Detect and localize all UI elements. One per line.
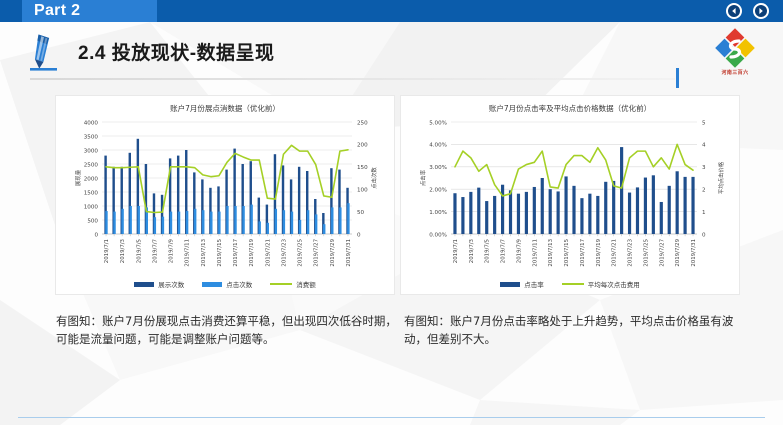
svg-text:100: 100 [357, 188, 368, 194]
svg-text:点击次数: 点击次数 [370, 167, 378, 189]
svg-text:2019/7/17: 2019/7/17 [233, 239, 239, 267]
svg-text:2019/7/23: 2019/7/23 [628, 239, 634, 267]
legend-swatch [562, 283, 584, 286]
legend-label: 点击次数 [226, 279, 252, 289]
arrow-left-circle-icon [728, 5, 740, 17]
svg-text:3.00%: 3.00% [429, 165, 447, 171]
arrow-right-circle-icon [755, 5, 767, 17]
top-bar: Part 2 [0, 0, 783, 22]
svg-text:2019/7/9: 2019/7/9 [169, 238, 175, 263]
svg-text:0: 0 [702, 232, 706, 238]
svg-text:3000: 3000 [84, 148, 99, 154]
svg-text:2019/7/7: 2019/7/7 [152, 239, 158, 263]
caption-left: 有图知：账户7月份展现点击消费还算平稳，但出现四次低谷时期，可能是流量问题，可能… [56, 313, 401, 349]
chart-plot-area: 0.00%1.00%2.00%3.00%4.00%5.00%012345点击率平… [401, 96, 739, 294]
svg-text:2019/7/1: 2019/7/1 [453, 239, 459, 263]
svg-text:4.00%: 4.00% [429, 143, 447, 149]
svg-text:2019/7/19: 2019/7/19 [596, 238, 602, 266]
bottom-accent-rule [18, 417, 765, 419]
logo-text: 河南三百六 [721, 69, 748, 76]
legend-swatch [270, 283, 292, 286]
svg-text:0: 0 [94, 232, 98, 238]
svg-text:5: 5 [702, 120, 706, 126]
svg-text:2019/7/21: 2019/7/21 [612, 239, 618, 267]
title-divider-cap [676, 68, 679, 88]
svg-text:2.00%: 2.00% [429, 188, 447, 194]
legend-item-cost: 消费额 [270, 279, 316, 289]
svg-text:2: 2 [702, 188, 706, 194]
svg-text:200: 200 [357, 143, 368, 149]
svg-text:2019/7/5: 2019/7/5 [485, 239, 491, 263]
svg-text:0: 0 [357, 232, 361, 238]
svg-text:2000: 2000 [84, 176, 99, 182]
svg-text:150: 150 [357, 165, 368, 171]
svg-text:2019/7/3: 2019/7/3 [469, 239, 475, 263]
svg-text:0.00%: 0.00% [429, 232, 447, 238]
svg-text:1500: 1500 [84, 190, 99, 196]
legend-item-clicks: 点击次数 [202, 279, 252, 289]
svg-text:5.00%: 5.00% [429, 120, 447, 126]
svg-text:2019/7/27: 2019/7/27 [659, 239, 665, 267]
svg-text:2019/7/11: 2019/7/11 [185, 239, 191, 267]
nav-forward-button[interactable] [753, 3, 769, 19]
svg-text:2019/7/17: 2019/7/17 [580, 239, 586, 267]
svg-text:2019/7/31: 2019/7/31 [691, 239, 697, 267]
svg-text:500: 500 [87, 218, 98, 224]
svg-text:1: 1 [702, 210, 706, 216]
svg-text:3: 3 [702, 165, 706, 171]
svg-text:2019/7/29: 2019/7/29 [675, 238, 681, 266]
caption-right: 有图知：账户7月份点击率略处于上升趋势，平均点击价格虽有波动，但差别不大。 [404, 313, 744, 349]
svg-text:2019/7/25: 2019/7/25 [643, 239, 649, 267]
svg-text:2019/7/29: 2019/7/29 [330, 238, 336, 266]
svg-text:2019/7/21: 2019/7/21 [265, 239, 271, 267]
svg-text:1000: 1000 [84, 204, 99, 210]
nav-buttons [726, 3, 769, 19]
svg-text:2019/7/1: 2019/7/1 [104, 239, 110, 263]
svg-text:50: 50 [357, 210, 365, 216]
svg-text:点击率: 点击率 [419, 169, 427, 186]
svg-text:4000: 4000 [84, 120, 99, 126]
chart-card-impressions: 账户7月份展点消数据（优化前） 050010001500200025003000… [55, 95, 395, 295]
chart-card-ctr: 账户7月份点击率及平均点击价格数据（优化前） 0.00%1.00%2.00%3.… [400, 95, 740, 295]
svg-text:2019/7/5: 2019/7/5 [136, 239, 142, 263]
legend-swatch [500, 282, 520, 287]
legend-label: 平均每次点击费用 [588, 279, 640, 289]
legend-swatch [134, 282, 154, 287]
company-logo-icon [715, 28, 755, 68]
part-label: Part 2 [22, 0, 157, 22]
nav-back-button[interactable] [726, 3, 742, 19]
svg-text:4: 4 [702, 143, 706, 149]
chart-legend: 点击率 平均每次点击费用 [401, 279, 739, 289]
svg-text:2019/7/7: 2019/7/7 [501, 239, 507, 263]
legend-item-impressions: 展示次数 [134, 279, 184, 289]
legend-label: 点击率 [524, 279, 544, 289]
title-row: 2.4 投放现状-数据呈现 [0, 22, 783, 84]
legend-label: 展示次数 [158, 279, 184, 289]
svg-text:2019/7/3: 2019/7/3 [120, 239, 126, 263]
legend-item-ctr: 点击率 [500, 279, 544, 289]
svg-text:展现量: 展现量 [75, 169, 82, 186]
svg-text:平均点击价格: 平均点击价格 [717, 161, 725, 194]
svg-text:2019/7/9: 2019/7/9 [516, 238, 522, 263]
svg-text:2019/7/27: 2019/7/27 [314, 239, 320, 267]
svg-text:2019/7/31: 2019/7/31 [346, 239, 352, 267]
chart-plot-area: 0500100015002000250030003500400005010015… [56, 96, 394, 294]
legend-item-avgcpc: 平均每次点击费用 [562, 279, 640, 289]
title-divider [30, 78, 675, 80]
chart-legend: 展示次数 点击次数 消费额 [56, 279, 394, 289]
svg-text:3500: 3500 [84, 134, 99, 140]
svg-text:2500: 2500 [84, 162, 99, 168]
legend-label: 消费额 [296, 279, 316, 289]
svg-text:2019/7/15: 2019/7/15 [564, 239, 570, 267]
legend-swatch [202, 282, 222, 287]
svg-text:1.00%: 1.00% [429, 210, 447, 216]
logo: 河南三百六 [707, 28, 763, 80]
svg-text:2019/7/15: 2019/7/15 [217, 239, 223, 267]
svg-text:2019/7/19: 2019/7/19 [249, 238, 255, 266]
slide-canvas: Part 2 [0, 0, 783, 425]
pencil-icon [26, 30, 60, 74]
page-title: 2.4 投放现状-数据呈现 [78, 38, 275, 65]
svg-text:2019/7/23: 2019/7/23 [281, 239, 287, 267]
svg-text:2019/7/13: 2019/7/13 [548, 239, 554, 267]
svg-text:2019/7/11: 2019/7/11 [532, 239, 538, 267]
svg-text:250: 250 [357, 120, 368, 126]
svg-text:2019/7/25: 2019/7/25 [298, 239, 304, 267]
svg-text:2019/7/13: 2019/7/13 [201, 239, 207, 267]
